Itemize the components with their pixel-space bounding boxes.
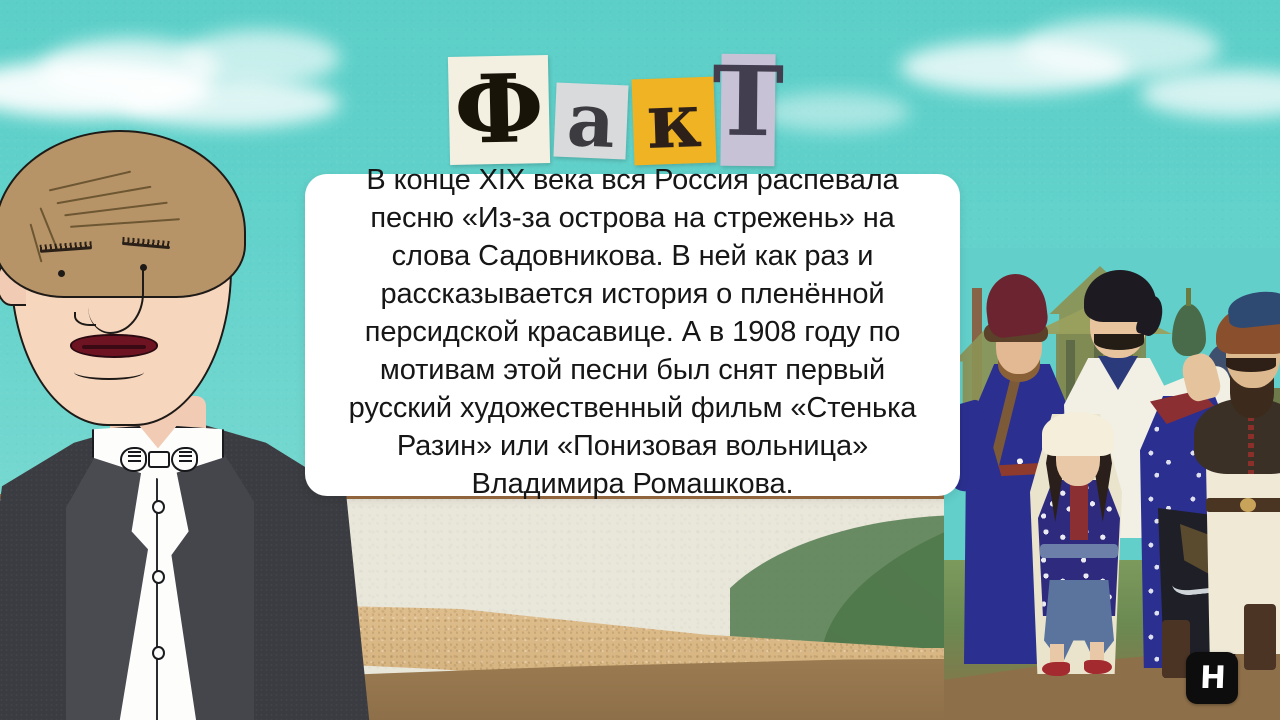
fact-title: Ф а к Т (443, 48, 783, 170)
princess-shoe (1042, 662, 1070, 676)
shirt-button (152, 500, 165, 514)
princess-headscarf (1042, 412, 1114, 456)
bow-tie-wing (120, 447, 147, 472)
hair-strand (64, 202, 167, 217)
channel-watermark-badge: Н (1186, 652, 1238, 704)
bow-tie (120, 446, 198, 472)
bow-tie-wing (171, 447, 198, 472)
hair-strand (70, 218, 180, 228)
title-letter-tile-3: к (632, 77, 717, 166)
eye-left (58, 270, 65, 277)
hair-strand (30, 223, 43, 262)
cossack-scene-illustration (944, 248, 1280, 720)
belt-buckle (1240, 498, 1256, 512)
slide-canvas: Ф а к Т В конце XIX века вся Россия расп… (0, 0, 1280, 720)
hair-strand (57, 186, 152, 205)
shirt-button (152, 570, 165, 584)
cloud (1020, 18, 1220, 78)
fact-body-text: В конце XIX века вся Россия распевала пе… (331, 161, 934, 503)
watermark-logo-glyph: Н (1199, 663, 1224, 694)
title-letter-tile-1: Ф (448, 55, 550, 165)
cossack-far-right-moustache (1226, 358, 1276, 372)
princess-sash (1040, 544, 1118, 558)
title-letter-tile-2: а (553, 83, 628, 160)
cossack-far-right-boot (1244, 604, 1276, 670)
cossack-center-moustache (1094, 334, 1144, 350)
mouth (70, 334, 158, 358)
bow-tie-knot (148, 451, 170, 468)
title-letter-tile-4: Т (720, 54, 775, 167)
fact-text-card: В конце XIX века вся Россия распевала пе… (305, 174, 960, 496)
cloud (180, 30, 340, 86)
chin-line (74, 364, 144, 380)
princess-shoe (1084, 660, 1112, 674)
princess-inner-garment (1070, 484, 1088, 540)
hair-strand (49, 171, 131, 192)
shirt-button (152, 646, 165, 660)
